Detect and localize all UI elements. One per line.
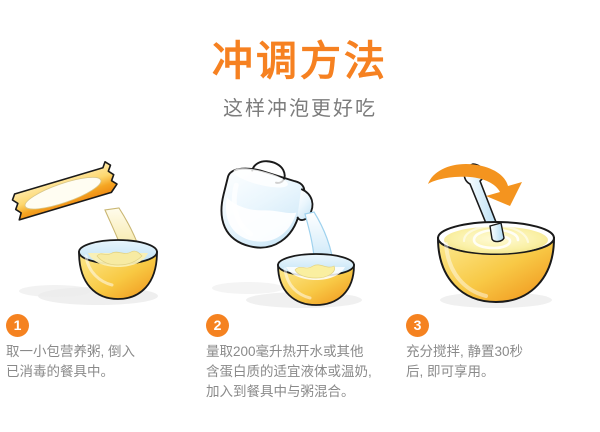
page-header: 冲调方法 这样冲泡更好吃	[0, 38, 600, 122]
step-1-illustration	[0, 152, 200, 312]
step-description: 量取200毫升热开水或其他 含蛋白质的适宜液体或温奶, 加入到餐具中与粥混合。	[206, 342, 402, 402]
step-item: 1 取一小包营养粥, 倒入 已消毒的餐具中。	[0, 152, 200, 432]
shadow-jug	[212, 282, 284, 294]
step-2-illustration	[200, 152, 400, 312]
page-subtitle: 这样冲泡更好吃	[0, 96, 600, 122]
step-description: 取一小包营养粥, 倒入 已消毒的餐具中。	[6, 342, 198, 382]
step-item: 2 量取200毫升热开水或其他 含蛋白质的适宜液体或温奶, 加入到餐具中与粥混合…	[200, 152, 400, 432]
step-description: 充分搅拌, 静置30秒 后, 即可享用。	[406, 342, 586, 382]
step-3-illustration	[400, 152, 600, 312]
sachet-icon	[11, 160, 119, 223]
pitcher-icon	[213, 153, 321, 259]
shadow-sachet	[19, 285, 91, 297]
spoon-tip	[490, 223, 504, 242]
step-item: 3 充分搅拌, 静置30秒 后, 即可享用。	[400, 152, 600, 432]
steps-container: 1 取一小包营养粥, 倒入 已消毒的餐具中。	[0, 152, 600, 432]
step-number-badge: 2	[206, 314, 229, 337]
step-number-badge: 1	[6, 314, 29, 337]
step-number-badge: 3	[406, 314, 429, 337]
page-title: 冲调方法	[0, 38, 600, 84]
instruction-page: 冲调方法 这样冲泡更好吃	[0, 0, 600, 432]
